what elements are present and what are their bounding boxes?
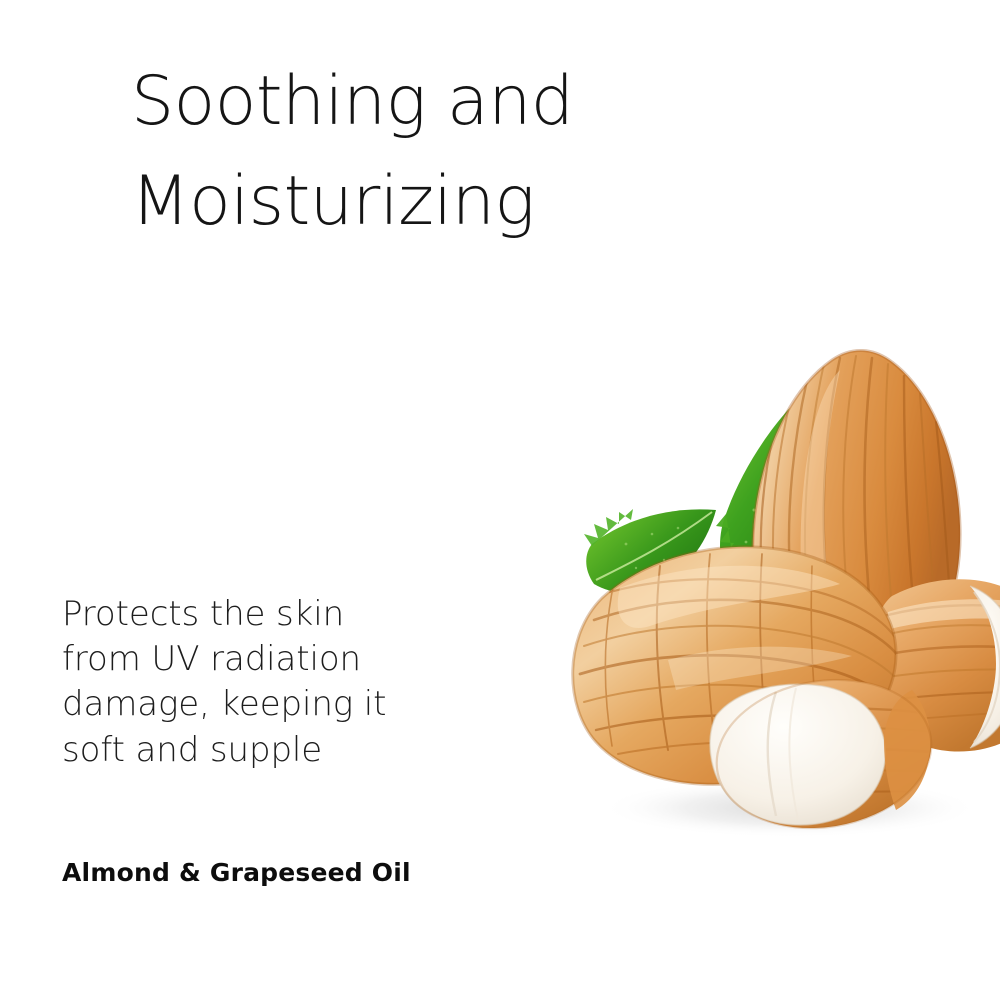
ingredient-caption: Almond & Grapeseed Oil [62, 858, 411, 887]
poster-canvas: Soothing and Moisturizing Protects the s… [0, 0, 1000, 1000]
body-description: Protects the skin from UV radiation dama… [62, 592, 492, 773]
page-title: Soothing and Moisturizing [131, 52, 751, 252]
almond-cluster-image [540, 330, 1000, 850]
